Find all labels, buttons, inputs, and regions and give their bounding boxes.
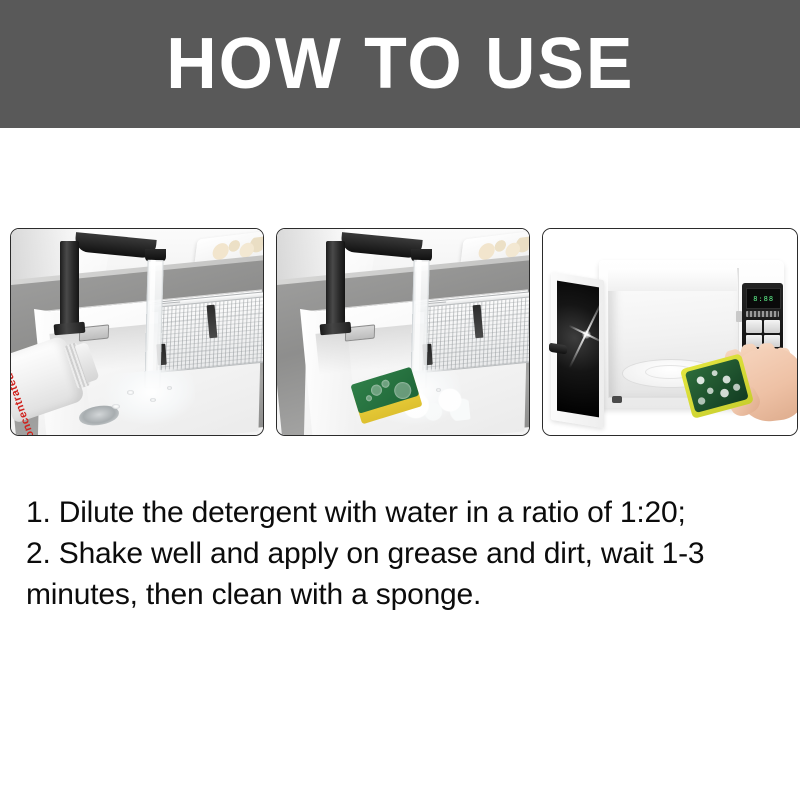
photo-panel-sink-detergent[interactable]: lakehoe Concentrated [10, 228, 264, 436]
hand [688, 336, 798, 436]
sponge-bubble [365, 395, 372, 402]
water-bubble [112, 404, 120, 409]
instructions-block: 1. Dilute the detergent with water in a … [26, 492, 766, 615]
water-stream [410, 260, 430, 388]
faucet-column [326, 241, 345, 328]
water-bubble [167, 386, 172, 390]
sponge-bubble [380, 379, 390, 389]
microwave-button [764, 320, 780, 332]
sink-scene: lakehoe Concentrated [11, 229, 263, 435]
photo-panel-sink-sponge[interactable] [276, 228, 530, 436]
sink-scene [277, 229, 529, 435]
water-bubble [127, 390, 134, 395]
water-bubble [150, 398, 156, 402]
page-title: HOW TO USE [166, 28, 634, 100]
microwave-display-strip [746, 311, 779, 318]
photo-panel-microwave[interactable]: 8:88 [542, 228, 798, 436]
microwave-door-latch [736, 311, 742, 321]
instruction-step-2: 2. Shake well and apply on grease and di… [26, 533, 766, 615]
faucet-column [60, 241, 79, 328]
header-banner: HOW TO USE [0, 0, 800, 128]
photo-panel-row: lakehoe Concentrated [10, 228, 790, 434]
instruction-step-1: 1. Dilute the detergent with water in a … [26, 492, 766, 533]
water-stream [144, 260, 164, 388]
microwave-foot [612, 396, 622, 403]
microwave-cavity-ceiling [608, 268, 738, 291]
microwave-button [746, 320, 762, 332]
microwave-scene: 8:88 [543, 229, 797, 435]
microwave-display: 8:88 [746, 288, 781, 308]
